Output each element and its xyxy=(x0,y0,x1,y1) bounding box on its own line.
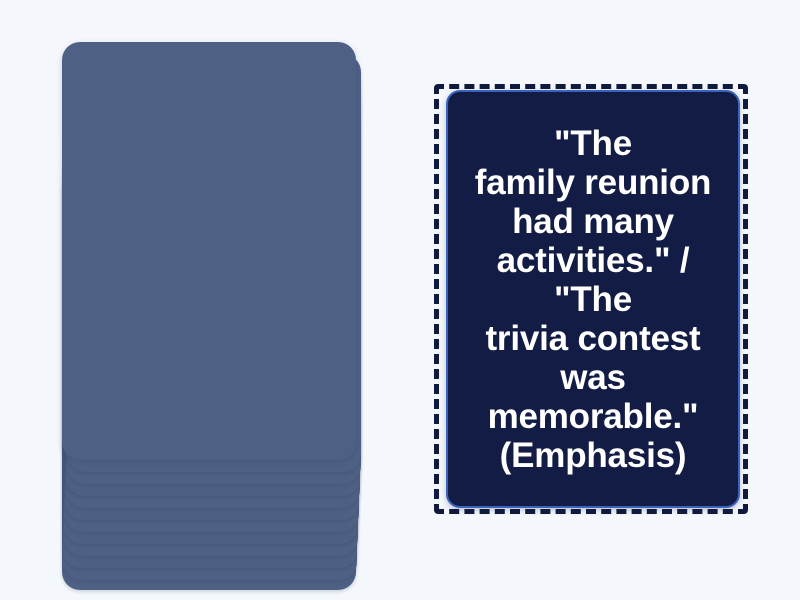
flashcard-stage: "The family reunion had many activities.… xyxy=(0,0,800,600)
flashcard-text: "The family reunion had many activities.… xyxy=(454,124,732,475)
revealed-flashcard[interactable]: "The family reunion had many activities.… xyxy=(446,90,740,508)
deck-top-card[interactable] xyxy=(62,42,356,460)
card-deck[interactable] xyxy=(62,42,356,548)
